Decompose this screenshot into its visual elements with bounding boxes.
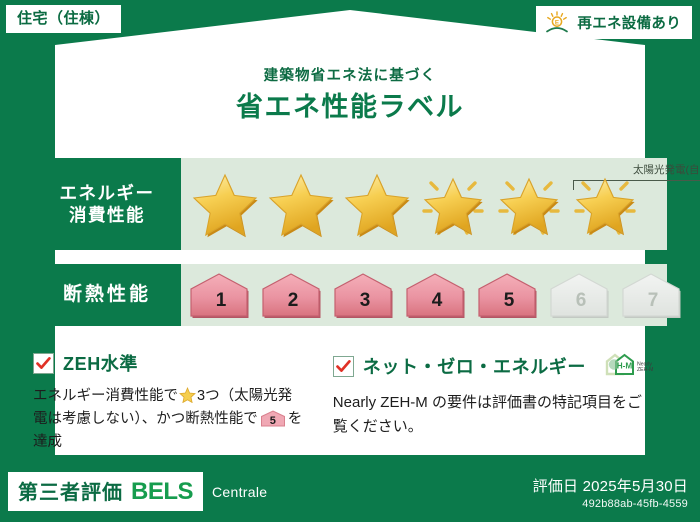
claim-zeh-standard: ZEH水準 エネルギー消費性能で3つ（太陽光発電は考慮しない）、かつ断熱性能で5… [33, 350, 318, 445]
footer-bels: 第三者評価 BELS Centrale [8, 472, 267, 511]
insulation-level-number: 4 [403, 290, 471, 312]
claim-nze-body: Nearly ZEH-M の要件は評価書の特記項目をご覧ください。 [333, 391, 653, 440]
claim-zeh-body-part1: エネルギー消費性能で [33, 388, 178, 404]
insulation-level-house: 3 [331, 270, 399, 320]
energy-performance-stars: 太陽光発電(自家消費)分 [181, 158, 667, 250]
insulation-level-house: 1 [187, 270, 255, 320]
bels-logo-box: 第三者評価 BELS [8, 472, 203, 511]
claim-zeh-title: ZEH水準 [63, 350, 138, 376]
claim-zeh-header: ZEH水準 [33, 350, 304, 376]
star-rating-item [187, 167, 263, 241]
insulation-level-house-inactive: 7 [619, 270, 687, 320]
insulation-level-scale: 1 2 3 4 [181, 264, 691, 326]
claim-zeh-star-count: 3つ [197, 388, 220, 404]
renewable-badge-label: 再エネ設備あり [577, 12, 681, 33]
energy-performance-key: エネルギー 消費性能 [33, 158, 181, 250]
checkbox-checked-icon [33, 353, 54, 374]
bels-en-label: BELS [131, 478, 193, 506]
insulation-level-house-inactive: 6 [547, 270, 615, 320]
evaluation-date: 評価日 2025年5月30日 [533, 475, 688, 496]
claim-nze-title: ネット・ゼロ・エネルギー [363, 353, 586, 379]
star-rating-item-solar [491, 167, 567, 241]
insulation-level-number: 1 [187, 290, 255, 312]
claim-zeh-body: エネルギー消費性能で3つ（太陽光発電は考慮しない）、かつ断熱性能で5を達成 [33, 385, 304, 454]
star-rating-item-solar [567, 167, 643, 241]
energy-performance-label: 住宅（住棟） E 再エネ設備あり 建築物省エネ法に基づく 省エネ性能ラベル [0, 0, 700, 522]
star-rating-item-solar [415, 167, 491, 241]
claim-net-zero-energy: ネット・ゼロ・エネルギー H-M Nearly ZEH-M Nearly ZEH… [318, 350, 667, 445]
bels-jp-label: 第三者評価 [18, 476, 123, 505]
energy-performance-row: エネルギー 消費性能 太陽光発電(自家消費)分 [33, 158, 667, 250]
evaluation-id: 492b88ab-45fb-4559 [533, 498, 688, 510]
energy-key-line2: 消費性能 [69, 204, 145, 226]
issuer-name: Centrale [212, 484, 267, 500]
insulation-level-number: 5 [475, 290, 543, 312]
claims-section: ZEH水準 エネルギー消費性能で3つ（太陽光発電は考慮しない）、かつ断熱性能で5… [33, 350, 667, 445]
svg-text:E: E [555, 19, 559, 26]
insulation-performance-key: 断熱性能 [33, 264, 181, 326]
inline-house-badge: 5 [260, 410, 286, 427]
footer-evaluation-info: 評価日 2025年5月30日 492b88ab-45fb-4559 [533, 475, 688, 510]
inline-star-icon [178, 388, 197, 404]
insulation-performance-row: 断熱性能 1 2 [33, 264, 667, 326]
insulation-level-house: 4 [403, 270, 471, 320]
insulation-level-number: 6 [547, 290, 615, 312]
star-rating-item [263, 167, 339, 241]
checkbox-checked-icon [333, 356, 354, 377]
renewable-equipment-badge: E 再エネ設備あり [536, 6, 692, 39]
insulation-level-house: 2 [259, 270, 327, 320]
zeh-m-logo-sub2: ZEH-M [637, 367, 653, 373]
inline-house-level: 5 [260, 413, 286, 430]
energy-key-line1: エネルギー [60, 182, 155, 204]
insulation-level-house: 5 [475, 270, 543, 320]
zeh-m-logo-text: H-M [617, 361, 633, 370]
building-type-tag: 住宅（住棟） [6, 5, 121, 33]
claim-nze-header: ネット・ゼロ・エネルギー H-M Nearly ZEH-M [333, 350, 653, 382]
label-subtitle: 建築物省エネ法に基づく [0, 64, 700, 85]
insulation-level-number: 7 [619, 290, 687, 312]
label-title: 省エネ性能ラベル [0, 85, 700, 124]
sun-icon: E [544, 11, 570, 35]
insulation-level-number: 2 [259, 290, 327, 312]
insulation-level-number: 3 [331, 290, 399, 312]
star-rating-item [339, 167, 415, 241]
zeh-m-logo-icon: H-M Nearly ZEH-M [595, 350, 653, 382]
